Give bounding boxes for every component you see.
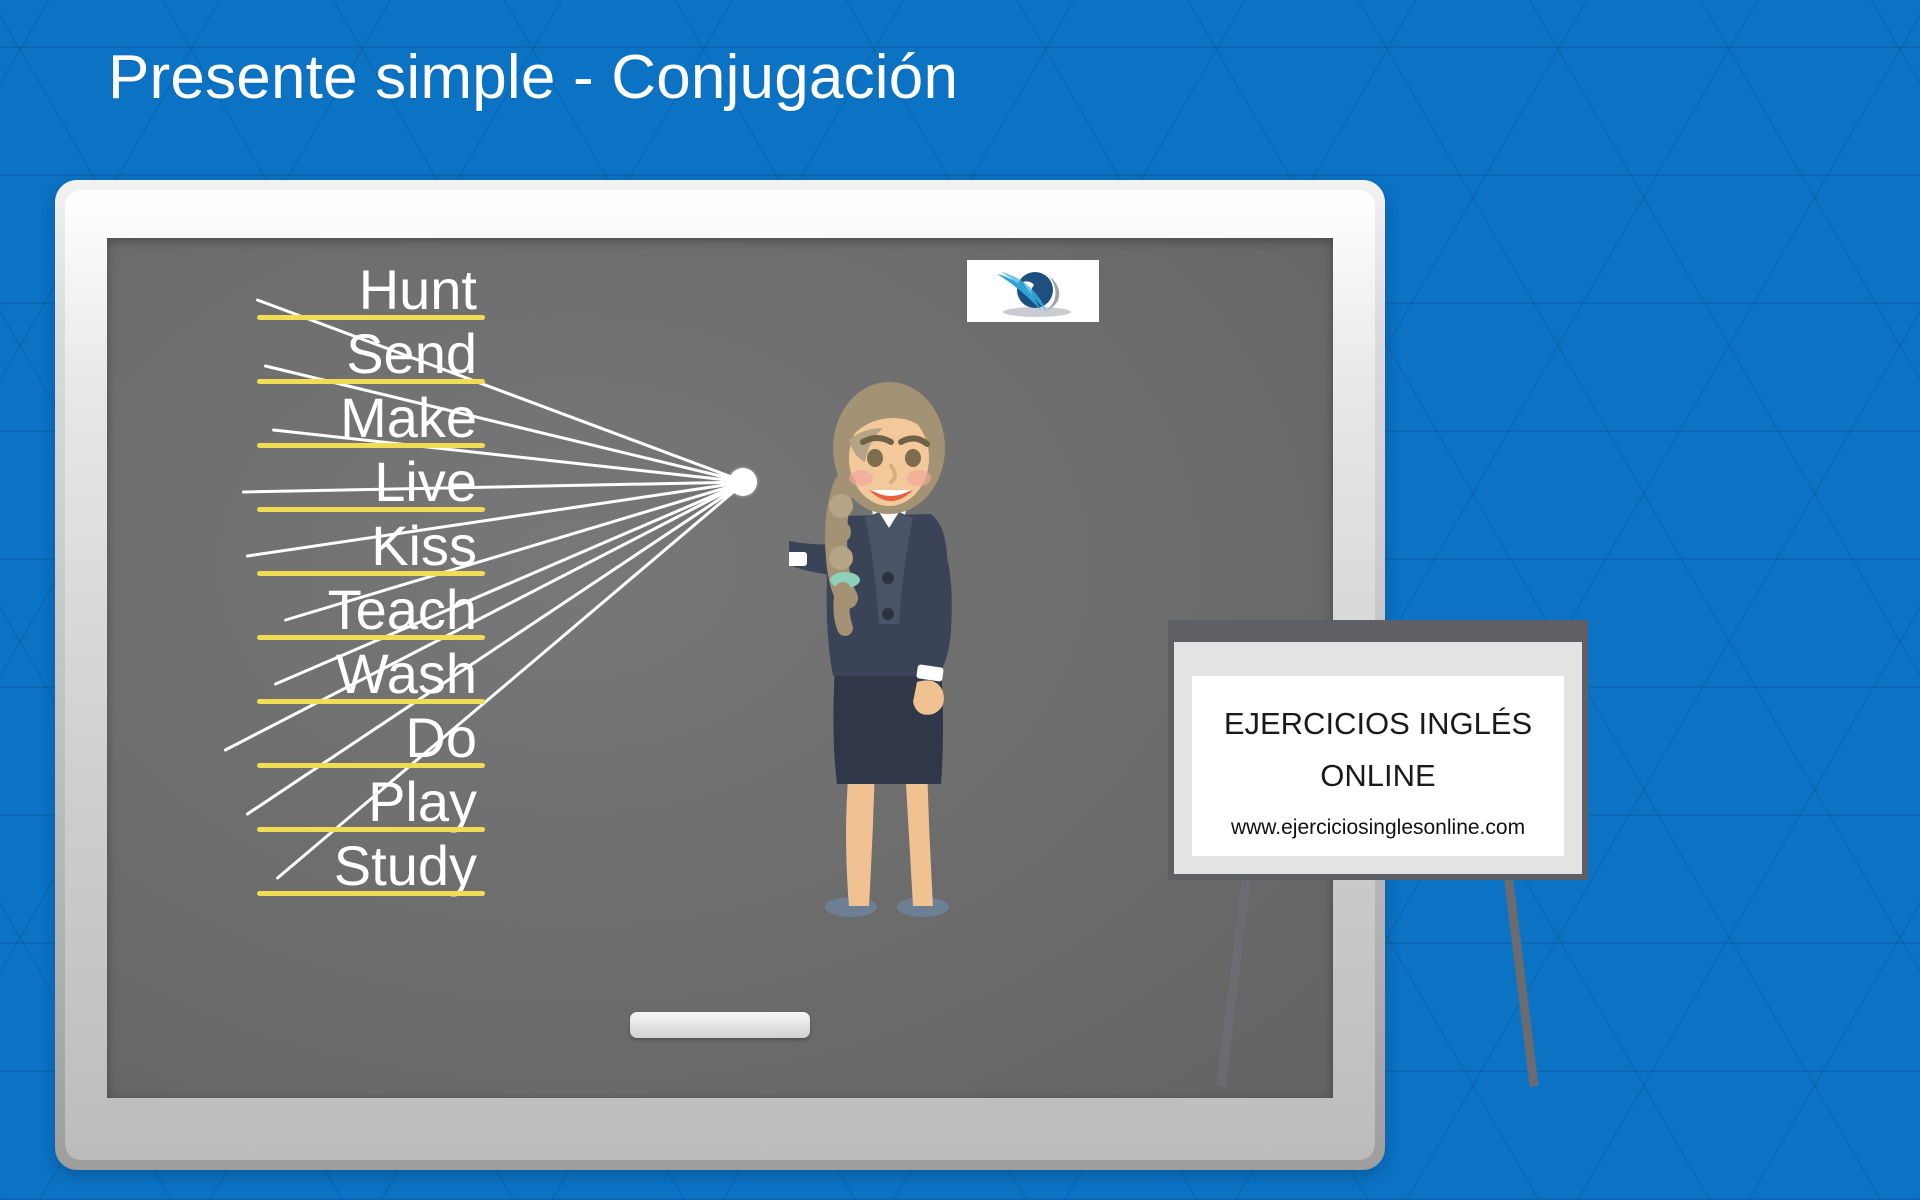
focus-dot (729, 468, 757, 496)
verb-label: Make (340, 386, 477, 450)
verb-underline (257, 827, 485, 832)
easel-sign: EJERCICIOS INGLÉS ONLINE www.ejerciciosi… (1168, 620, 1588, 880)
page-title: Presente simple - Conjugación (108, 42, 958, 113)
easel-sheet: EJERCICIOS INGLÉS ONLINE www.ejerciciosi… (1192, 676, 1564, 856)
verb-list: Hunt Send Make Live Kiss (247, 258, 477, 898)
verb-label: Do (405, 706, 477, 770)
verb-label: Teach (328, 578, 477, 642)
verb-label: Hunt (359, 258, 477, 322)
verb-underline (257, 635, 485, 640)
verb-item: Send (247, 322, 477, 386)
chalk-tray (630, 1012, 810, 1038)
verb-label: Play (368, 770, 477, 834)
verb-item: Live (247, 450, 477, 514)
verb-underline (257, 763, 485, 768)
verb-item: Play (247, 770, 477, 834)
brand-website-url: www.ejerciciosinglesonline.com (1231, 808, 1525, 848)
verb-underline (257, 507, 485, 512)
verb-item: Wash (247, 642, 477, 706)
verb-underline (257, 571, 485, 576)
teacher-illustration (789, 366, 989, 926)
slide-canvas: Presente simple - Conjugación (0, 0, 1920, 1200)
brand-line-1: EJERCICIOS INGLÉS (1224, 698, 1532, 750)
blackboard-surface: Hunt Send Make Live Kiss (107, 238, 1333, 1098)
easel-board: EJERCICIOS INGLÉS ONLINE www.ejerciciosi… (1174, 642, 1582, 874)
verb-item: Teach (247, 578, 477, 642)
verb-underline (257, 699, 485, 704)
verb-underline (257, 379, 485, 384)
verb-underline (257, 443, 485, 448)
verb-label: Live (374, 450, 477, 514)
verb-label: Send (346, 322, 477, 386)
verb-item: Do (247, 706, 477, 770)
verb-underline (257, 315, 485, 320)
verb-item: Study (247, 834, 477, 898)
verb-item: Make (247, 386, 477, 450)
easel-frame: EJERCICIOS INGLÉS ONLINE www.ejerciciosi… (1168, 620, 1588, 880)
verb-label: Wash (336, 642, 477, 706)
verb-label: Kiss (371, 514, 477, 578)
brand-line-2: ONLINE (1320, 750, 1435, 802)
verb-item: Hunt (247, 258, 477, 322)
verb-item: Kiss (247, 514, 477, 578)
verb-label: Study (334, 834, 477, 898)
globe-swoosh-logo (967, 260, 1099, 322)
easel-leg-right (1504, 877, 1539, 1087)
verb-underline (257, 891, 485, 896)
